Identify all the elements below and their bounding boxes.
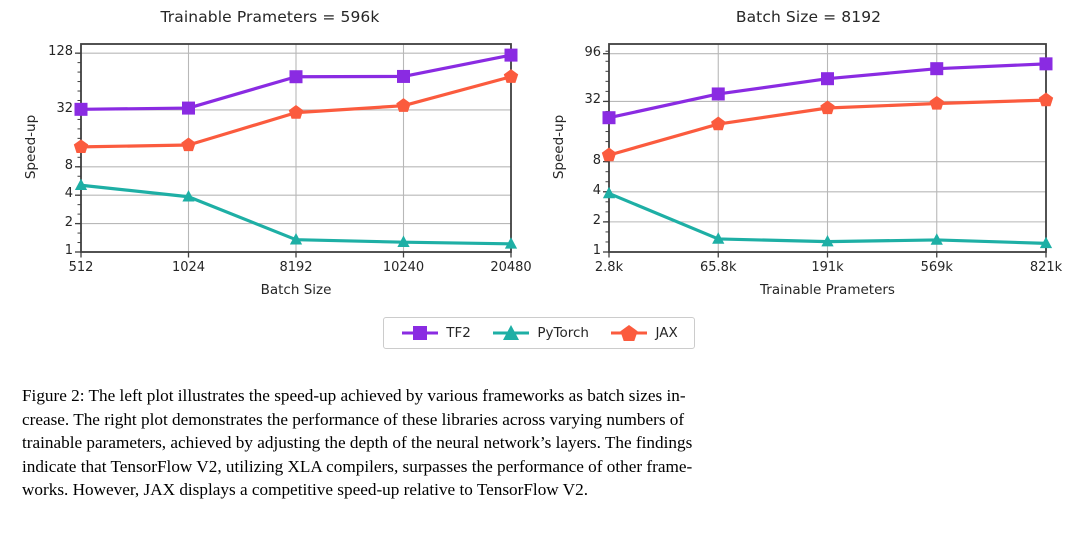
square-marker (930, 62, 943, 75)
x-tick-label: 569k (892, 260, 982, 275)
pentagon-marker (504, 69, 518, 83)
legend-label-jax: JAX (655, 325, 677, 341)
pentagon-marker (396, 98, 410, 112)
chart-legend: TF2 PyTorch JAX (383, 317, 695, 349)
legend-entry-jax: JAX (609, 324, 677, 342)
pentagon-marker (711, 117, 725, 131)
y-tick-label: 4 (543, 183, 601, 198)
x-tick-label: 8192 (251, 260, 341, 275)
x-tick-label: 821k (1001, 260, 1077, 275)
legend-entry-pytorch: PyTorch (491, 324, 589, 342)
legend-label-pytorch: PyTorch (537, 325, 589, 341)
square-marker (397, 70, 410, 83)
figure-plots-area: Trainable Prameters = 596k Speed-up Batc… (0, 0, 1077, 372)
y-tick-label: 96 (543, 45, 601, 60)
pentagon-marker (74, 139, 88, 153)
chart-panel-left: Trainable Prameters = 596k Speed-up Batc… (0, 0, 540, 300)
caption-line: crease. The right plot demonstrates the … (22, 408, 1058, 432)
square-marker (712, 87, 725, 100)
legend-entry-tf2: TF2 (400, 324, 471, 342)
y-tick-label: 32 (15, 101, 73, 116)
x-tick-label: 10240 (359, 260, 449, 275)
square-marker (75, 103, 88, 116)
pentagon-marker (930, 96, 944, 110)
caption-line: trainable parameters, achieved by adjust… (22, 431, 1058, 455)
square-marker (821, 72, 834, 85)
caption-line: indicate that TensorFlow V2, utilizing X… (22, 455, 1058, 479)
pentagon-marker (820, 100, 834, 114)
x-tick-label: 512 (36, 260, 126, 275)
y-tick-label: 4 (15, 186, 73, 201)
triangle-marker-icon (491, 324, 531, 342)
y-tick-label: 8 (15, 158, 73, 173)
pentagon-marker-icon (609, 324, 649, 342)
figure-caption: Figure 2: The left plot illustrates the … (22, 384, 1058, 502)
figure-page: Trainable Prameters = 596k Speed-up Batc… (0, 0, 1077, 550)
caption-line: works. However, JAX displays a competiti… (22, 478, 1058, 502)
triangle-marker (603, 187, 615, 198)
x-tick-label: 1024 (144, 260, 234, 275)
square-marker (505, 49, 518, 62)
chart-panel-right: Batch Size = 8192 Speed-up Trainable Pra… (540, 0, 1077, 300)
x-tick-label: 2.8k (564, 260, 654, 275)
chart-canvas-right (540, 0, 1077, 300)
y-tick-label: 1 (15, 243, 73, 258)
chart-canvas-left (0, 0, 540, 300)
pentagon-marker (181, 137, 195, 151)
caption-line: Figure 2: The left plot illustrates the … (22, 384, 1058, 408)
pentagon-marker (289, 105, 303, 119)
square-marker (290, 70, 303, 83)
y-tick-label: 2 (543, 213, 601, 228)
y-tick-label: 128 (15, 44, 73, 59)
pentagon-marker (1039, 93, 1053, 107)
square-marker (1040, 57, 1053, 70)
square-marker (182, 102, 195, 115)
y-tick-label: 32 (543, 92, 601, 107)
y-tick-label: 2 (15, 215, 73, 230)
legend-label-tf2: TF2 (446, 325, 471, 341)
y-tick-label: 8 (543, 153, 601, 168)
x-tick-label: 65.8k (673, 260, 763, 275)
square-marker (603, 111, 616, 124)
y-tick-label: 1 (543, 243, 601, 258)
square-marker-icon (400, 324, 440, 342)
pentagon-marker (602, 148, 616, 162)
x-tick-label: 191k (783, 260, 873, 275)
